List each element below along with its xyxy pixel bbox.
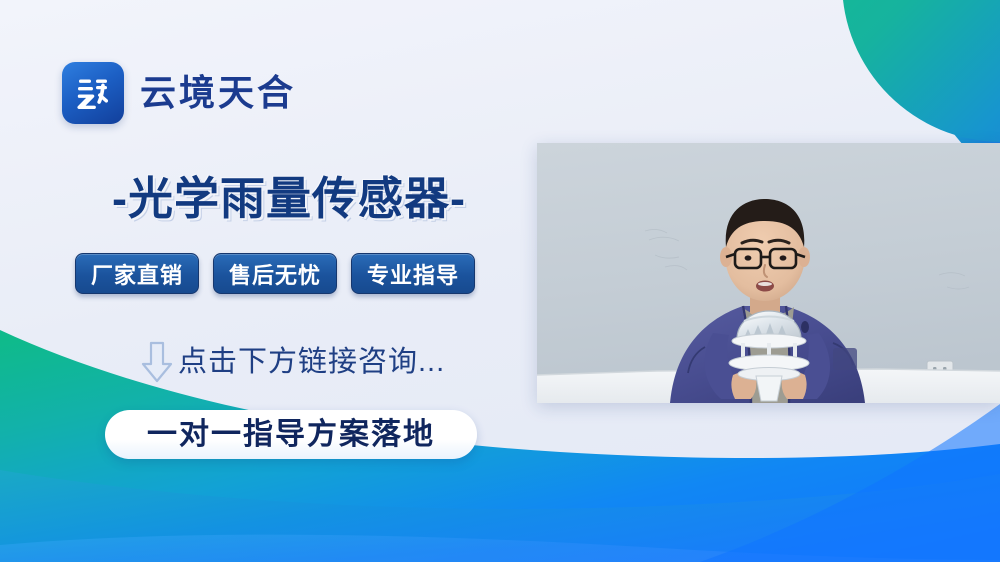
cta-pill[interactable]: 一对一指导方案落地 bbox=[105, 410, 477, 459]
promo-banner-stage: 云境天合 -光学雨量传感器- 厂家直销 售后无忧 专业指导 点击下方链接咨询..… bbox=[0, 0, 1000, 562]
jacket-pocket bbox=[833, 348, 857, 370]
badge-expert-guide[interactable]: 专业指导 bbox=[351, 253, 475, 294]
cta-line[interactable]: 点击下方链接咨询... bbox=[140, 340, 445, 384]
page-title: -光学雨量传感器- bbox=[112, 176, 466, 221]
feature-badge-row: 厂家直销 售后无忧 专业指导 bbox=[75, 253, 475, 294]
brand-name: 云境天合 bbox=[140, 75, 296, 111]
brand-logo-row: 云境天合 bbox=[62, 62, 296, 124]
arrow-down-icon bbox=[140, 340, 174, 384]
jacket-button bbox=[801, 321, 809, 333]
logo-glyph bbox=[72, 72, 114, 114]
video-scene bbox=[537, 143, 1000, 403]
product-video-panel[interactable] bbox=[537, 143, 1000, 403]
yunjing-tianhe-logo-icon bbox=[62, 62, 124, 124]
badge-factory-direct[interactable]: 厂家直销 bbox=[75, 253, 199, 294]
product-video-frame bbox=[537, 143, 1000, 403]
cta-pill-label: 一对一指导方案落地 bbox=[147, 420, 435, 450]
badge-after-sales[interactable]: 售后无忧 bbox=[213, 253, 337, 294]
cta-text: 点击下方链接咨询... bbox=[178, 348, 445, 377]
